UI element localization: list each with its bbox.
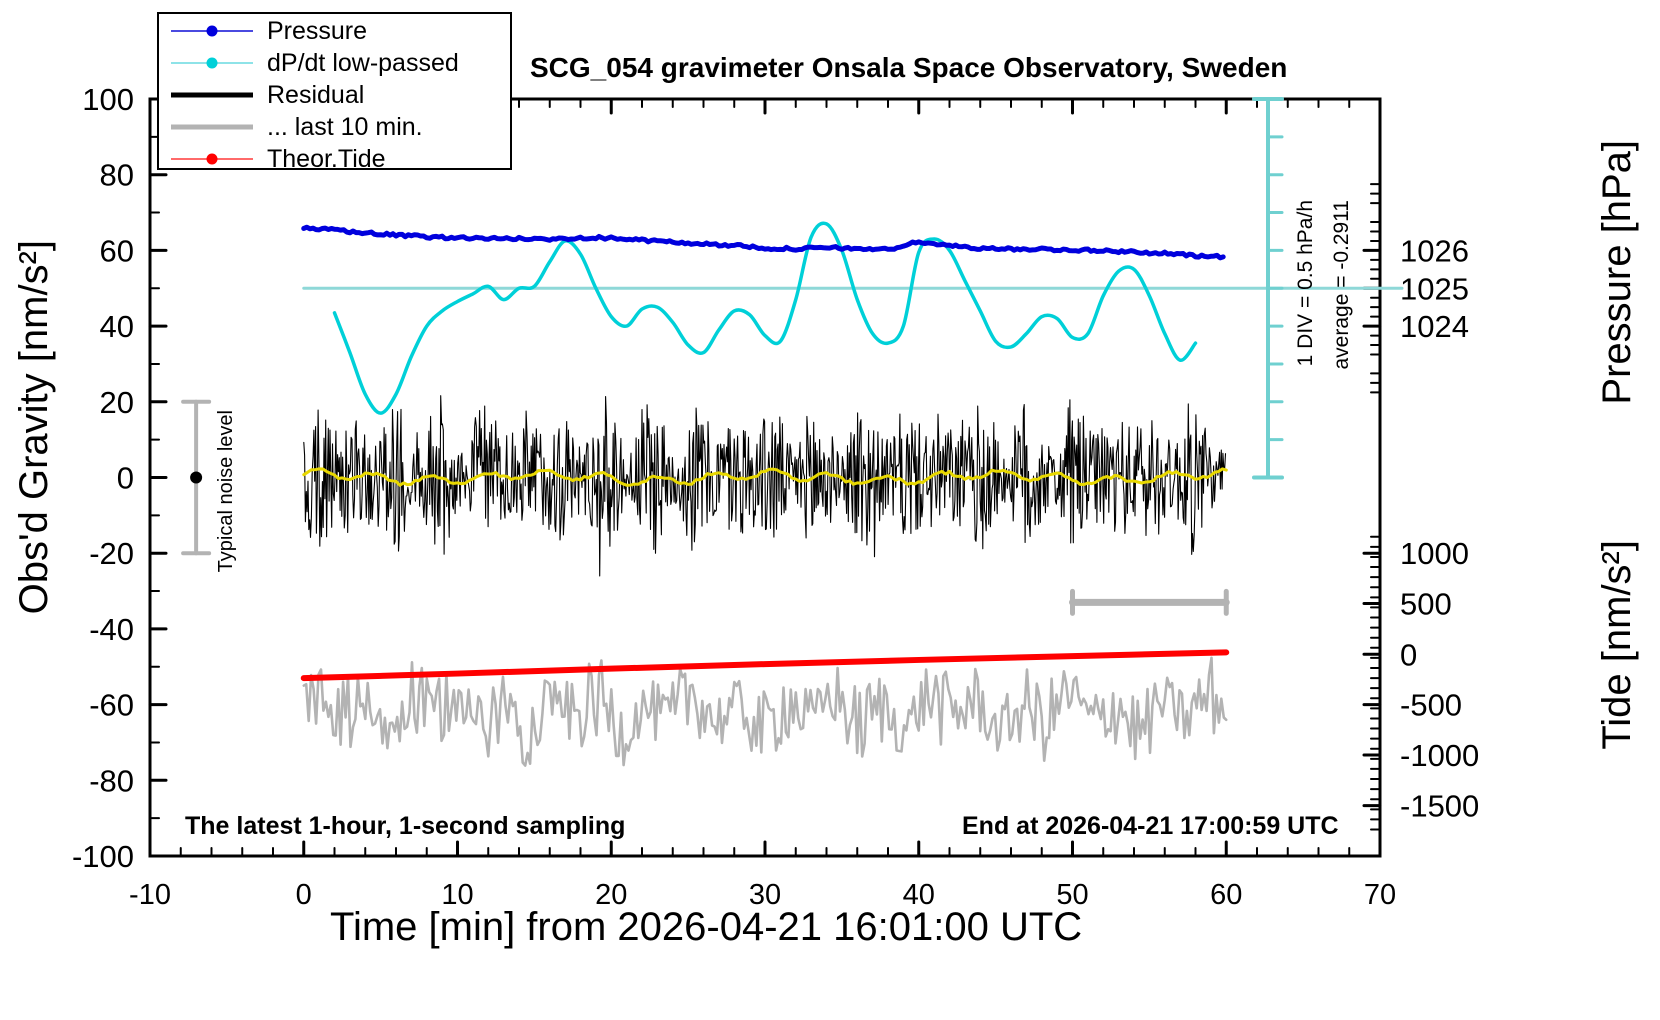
y-tick-label--100: -100 xyxy=(72,839,134,874)
dpdt-average-annotation: average = -0.2911 xyxy=(1330,200,1354,370)
noise-level-annotation: Typical noise level xyxy=(215,410,238,572)
legend-swatch-pressure xyxy=(171,21,253,41)
y-tick-label-0: 0 xyxy=(117,461,134,496)
legend-swatch-dpdt xyxy=(171,53,253,73)
legend-label-residual: Residual xyxy=(267,83,364,108)
legend-label-pressure: Pressure xyxy=(267,19,367,44)
tide-tick-label-neg1000: -1000 xyxy=(1400,738,1479,773)
series-theor-tide xyxy=(304,652,1227,678)
chart-title: SCG_054 gravimeter Onsala Space Observat… xyxy=(530,52,1287,84)
legend-item-theortide: Theor.Tide xyxy=(159,144,510,174)
series-pressure xyxy=(304,227,1223,258)
y-tick-label-60: 60 xyxy=(100,233,134,268)
legend-label-last10: ... last 10 min. xyxy=(267,115,423,140)
legend-item-last10: ... last 10 min. xyxy=(159,112,510,142)
legend-swatch-last10 xyxy=(171,117,253,137)
legend: Pressure dP/dt low-passed Residual ... l… xyxy=(157,12,512,170)
x-tick-label-60: 60 xyxy=(1210,879,1242,911)
pressure-tick-label-1025: 1025 xyxy=(1400,271,1469,306)
y-tick-label-80: 80 xyxy=(100,158,134,193)
noise-errorbar-center-dot xyxy=(190,472,202,484)
x-tick-label--10: -10 xyxy=(129,879,171,911)
y-tick-label--80: -80 xyxy=(89,763,134,798)
y-tick-label--20: -20 xyxy=(89,536,134,571)
tide-tick-label-500: 500 xyxy=(1400,587,1452,622)
footer-left: The latest 1-hour, 1-second sampling xyxy=(185,812,625,841)
y-tick-label-100: 100 xyxy=(82,82,134,117)
tide-tick-label-0: 0 xyxy=(1400,637,1417,672)
y-axis-label-pressure: Pressure [hPa] xyxy=(1595,140,1640,405)
legend-item-residual: Residual xyxy=(159,80,510,110)
legend-swatch-residual xyxy=(171,85,253,105)
y-axis-label-tide: Tide [nm/s²] xyxy=(1595,540,1640,750)
tide-tick-label-1000: 1000 xyxy=(1400,536,1469,571)
pressure-tick-label-1026: 1026 xyxy=(1400,233,1469,268)
y-tick-label-40: 40 xyxy=(100,309,134,344)
gravimeter-plot: -10010203040506070100806040200-20-40-60-… xyxy=(0,0,1660,1020)
legend-label-theortide: Theor.Tide xyxy=(267,147,386,172)
footer-right: End at 2026-04-21 17:00:59 UTC xyxy=(962,812,1339,841)
legend-label-dpdt: dP/dt low-passed xyxy=(267,51,459,76)
y-tick-label-20: 20 xyxy=(100,385,134,420)
x-tick-label-70: 70 xyxy=(1364,879,1396,911)
x-tick-label-0: 0 xyxy=(296,879,312,911)
dpdt-scale-annotation: 1 DIV = 0.5 hPa/h xyxy=(1294,200,1318,366)
pressure-tick-label-1024: 1024 xyxy=(1400,309,1469,344)
tide-tick-label-neg500: -500 xyxy=(1400,688,1462,723)
tide-tick-label-neg1500: -1500 xyxy=(1400,789,1479,824)
y-axis-label-left: Obs'd Gravity [nm/s²] xyxy=(12,240,57,614)
x-axis-label: Time [min] from 2026-04-21 16:01:00 UTC xyxy=(330,905,1082,950)
legend-item-dpdt: dP/dt low-passed xyxy=(159,48,510,78)
y-tick-label--40: -40 xyxy=(89,612,134,647)
y-tick-label--60: -60 xyxy=(89,688,134,723)
legend-swatch-theortide xyxy=(171,149,253,169)
series-residual xyxy=(304,396,1226,576)
legend-item-pressure: Pressure xyxy=(159,16,510,46)
